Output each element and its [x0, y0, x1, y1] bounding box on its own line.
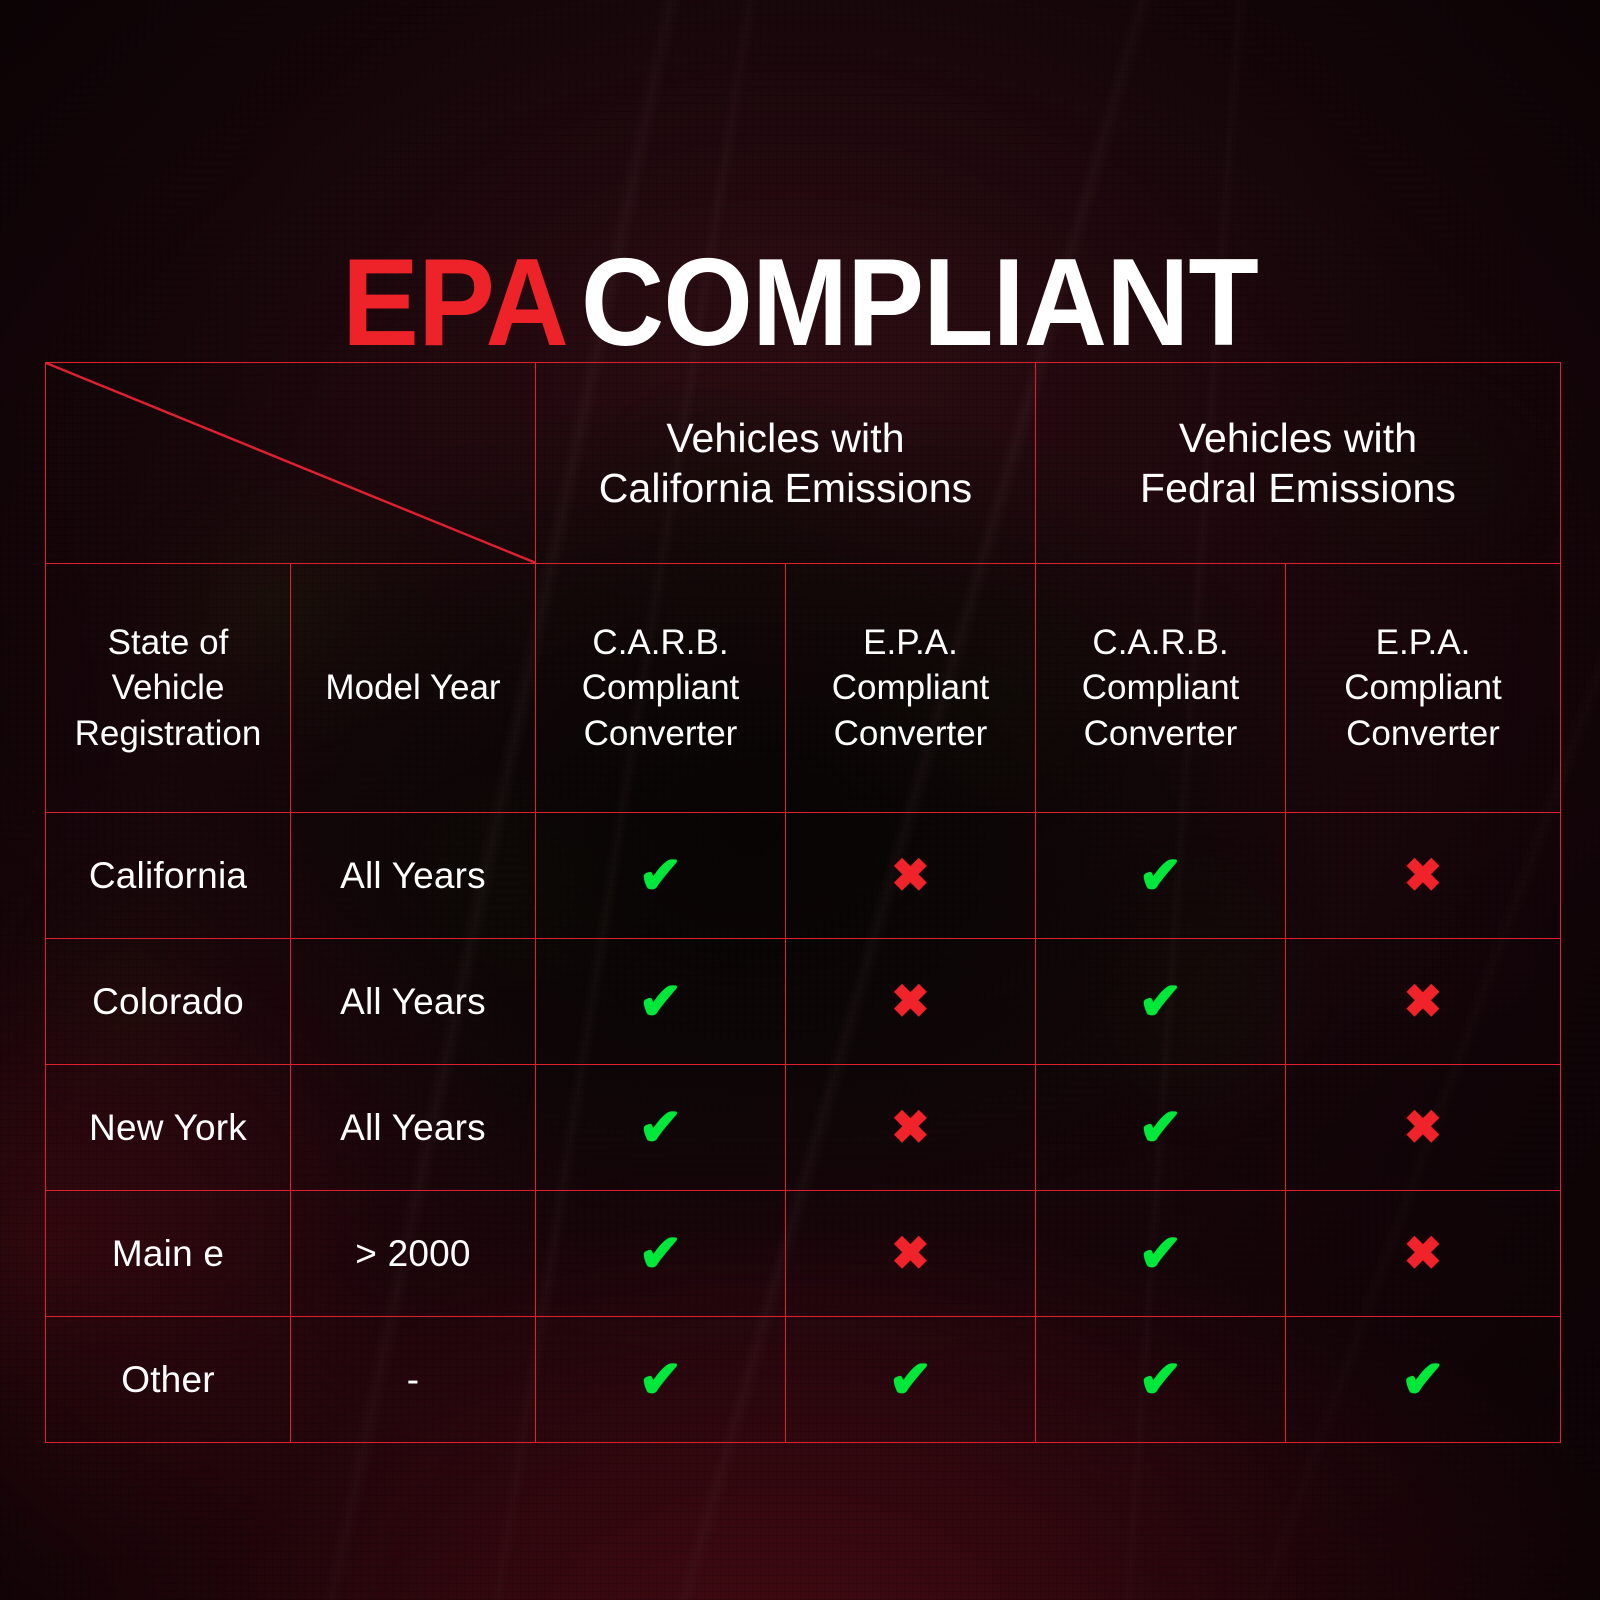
- cell-model-year: All Years: [291, 1065, 536, 1191]
- group-header-california-line2: California Emissions: [536, 463, 1035, 513]
- check-icon: ✔: [1139, 976, 1183, 1028]
- column-header-ca-epa: E.P.A. Compliant Converter: [786, 564, 1036, 813]
- column-header-fed-carb: C.A.R.B. Compliant Converter: [1036, 564, 1286, 813]
- poster-canvas: EPACOMPLIANT: [0, 0, 1600, 1600]
- check-icon: ✔: [1139, 850, 1183, 902]
- cross-icon: ✖: [1404, 852, 1443, 898]
- column-header-ca-epa-line1: E.P.A.: [786, 620, 1035, 666]
- cell-fed-carb: ✔: [1036, 813, 1286, 939]
- cell-ca-carb: ✔: [536, 1191, 786, 1317]
- cell-state: Other: [46, 1317, 291, 1443]
- column-header-fed-epa-line3: Converter: [1286, 711, 1560, 757]
- check-icon: ✔: [1401, 1354, 1445, 1406]
- cell-state: Colorado: [46, 939, 291, 1065]
- cell-ca-carb: ✔: [536, 1065, 786, 1191]
- group-header-federal-line1: Vehicles with: [1036, 413, 1560, 463]
- column-header-fed-epa: E.P.A. Compliant Converter: [1286, 564, 1561, 813]
- column-header-fed-carb-line2: Compliant: [1036, 665, 1285, 711]
- column-header-state-line1: State of: [46, 620, 290, 666]
- cell-model-year: -: [291, 1317, 536, 1443]
- check-icon: ✔: [639, 1354, 683, 1406]
- table-row: California All Years ✔ ✖ ✔ ✖: [46, 813, 1561, 939]
- title-rest: COMPLIANT: [581, 234, 1258, 372]
- group-header-federal-line2: Fedral Emissions: [1036, 463, 1560, 513]
- cross-icon: ✖: [1404, 1230, 1443, 1276]
- table-row: Other - ✔ ✔ ✔ ✔: [46, 1317, 1561, 1443]
- table-row: Colorado All Years ✔ ✖ ✔ ✖: [46, 939, 1561, 1065]
- cross-icon: ✖: [1404, 1104, 1443, 1150]
- cross-icon: ✖: [891, 978, 930, 1024]
- cell-ca-epa: ✖: [786, 1191, 1036, 1317]
- cell-fed-epa: ✔: [1286, 1317, 1561, 1443]
- title-highlight: EPA: [342, 234, 568, 372]
- column-header-fed-epa-line2: Compliant: [1286, 665, 1560, 711]
- column-header-ca-carb-line1: C.A.R.B.: [536, 620, 785, 666]
- check-icon: ✔: [639, 1228, 683, 1280]
- cell-fed-epa: ✖: [1286, 1191, 1561, 1317]
- column-header-state: State of Vehicle Registration: [46, 564, 291, 813]
- check-icon: ✔: [1139, 1102, 1183, 1154]
- cell-fed-carb: ✔: [1036, 1191, 1286, 1317]
- cell-fed-epa: ✖: [1286, 939, 1561, 1065]
- compliance-table-wrapper: Vehicles with California Emissions Vehic…: [45, 362, 1555, 1430]
- column-header-ca-epa-line3: Converter: [786, 711, 1035, 757]
- group-header-row: Vehicles with California Emissions Vehic…: [46, 363, 1561, 564]
- check-icon: ✔: [639, 976, 683, 1028]
- check-icon: ✔: [1139, 1228, 1183, 1280]
- cell-ca-carb: ✔: [536, 939, 786, 1065]
- cell-state: Main e: [46, 1191, 291, 1317]
- cross-icon: ✖: [1404, 978, 1443, 1024]
- cell-fed-carb: ✔: [1036, 1065, 1286, 1191]
- page-title: EPACOMPLIANT: [56, 241, 1544, 365]
- check-icon: ✔: [1139, 1354, 1183, 1406]
- cell-ca-epa: ✖: [786, 813, 1036, 939]
- column-header-ca-carb: C.A.R.B. Compliant Converter: [536, 564, 786, 813]
- check-icon: ✔: [639, 850, 683, 902]
- cell-state: New York: [46, 1065, 291, 1191]
- cross-icon: ✖: [891, 1104, 930, 1150]
- column-header-fed-carb-line3: Converter: [1036, 711, 1285, 757]
- cell-fed-epa: ✖: [1286, 813, 1561, 939]
- column-header-state-line3: Registration: [46, 711, 290, 757]
- table-row: New York All Years ✔ ✖ ✔ ✖: [46, 1065, 1561, 1191]
- cell-fed-carb: ✔: [1036, 1317, 1286, 1443]
- group-header-federal: Vehicles with Fedral Emissions: [1036, 363, 1561, 564]
- cell-model-year: All Years: [291, 939, 536, 1065]
- cell-ca-carb: ✔: [536, 1317, 786, 1443]
- column-header-fed-carb-line1: C.A.R.B.: [1036, 620, 1285, 666]
- column-header-state-line2: Vehicle: [46, 665, 290, 711]
- diagonal-slash-icon: [46, 363, 535, 563]
- cell-fed-carb: ✔: [1036, 939, 1286, 1065]
- cross-icon: ✖: [891, 1230, 930, 1276]
- cell-ca-epa: ✖: [786, 1065, 1036, 1191]
- column-header-ca-carb-line2: Compliant: [536, 665, 785, 711]
- group-header-california: Vehicles with California Emissions: [536, 363, 1036, 564]
- column-header-ca-epa-line2: Compliant: [786, 665, 1035, 711]
- cell-ca-carb: ✔: [536, 813, 786, 939]
- cell-ca-epa: ✔: [786, 1317, 1036, 1443]
- cell-model-year: All Years: [291, 813, 536, 939]
- column-header-model-year: Model Year: [291, 564, 536, 813]
- corner-cell: [46, 363, 536, 564]
- check-icon: ✔: [639, 1102, 683, 1154]
- column-header-ca-carb-line3: Converter: [536, 711, 785, 757]
- cell-model-year: > 2000: [291, 1191, 536, 1317]
- cell-ca-epa: ✖: [786, 939, 1036, 1065]
- column-header-row: State of Vehicle Registration Model Year…: [46, 564, 1561, 813]
- group-header-california-line1: Vehicles with: [536, 413, 1035, 463]
- column-header-fed-epa-line1: E.P.A.: [1286, 620, 1560, 666]
- cell-fed-epa: ✖: [1286, 1065, 1561, 1191]
- table-row: Main e > 2000 ✔ ✖ ✔ ✖: [46, 1191, 1561, 1317]
- cell-state: California: [46, 813, 291, 939]
- check-icon: ✔: [889, 1354, 933, 1406]
- column-header-model-year-line1: Model Year: [291, 665, 535, 711]
- compliance-table: Vehicles with California Emissions Vehic…: [45, 362, 1561, 1443]
- cross-icon: ✖: [891, 852, 930, 898]
